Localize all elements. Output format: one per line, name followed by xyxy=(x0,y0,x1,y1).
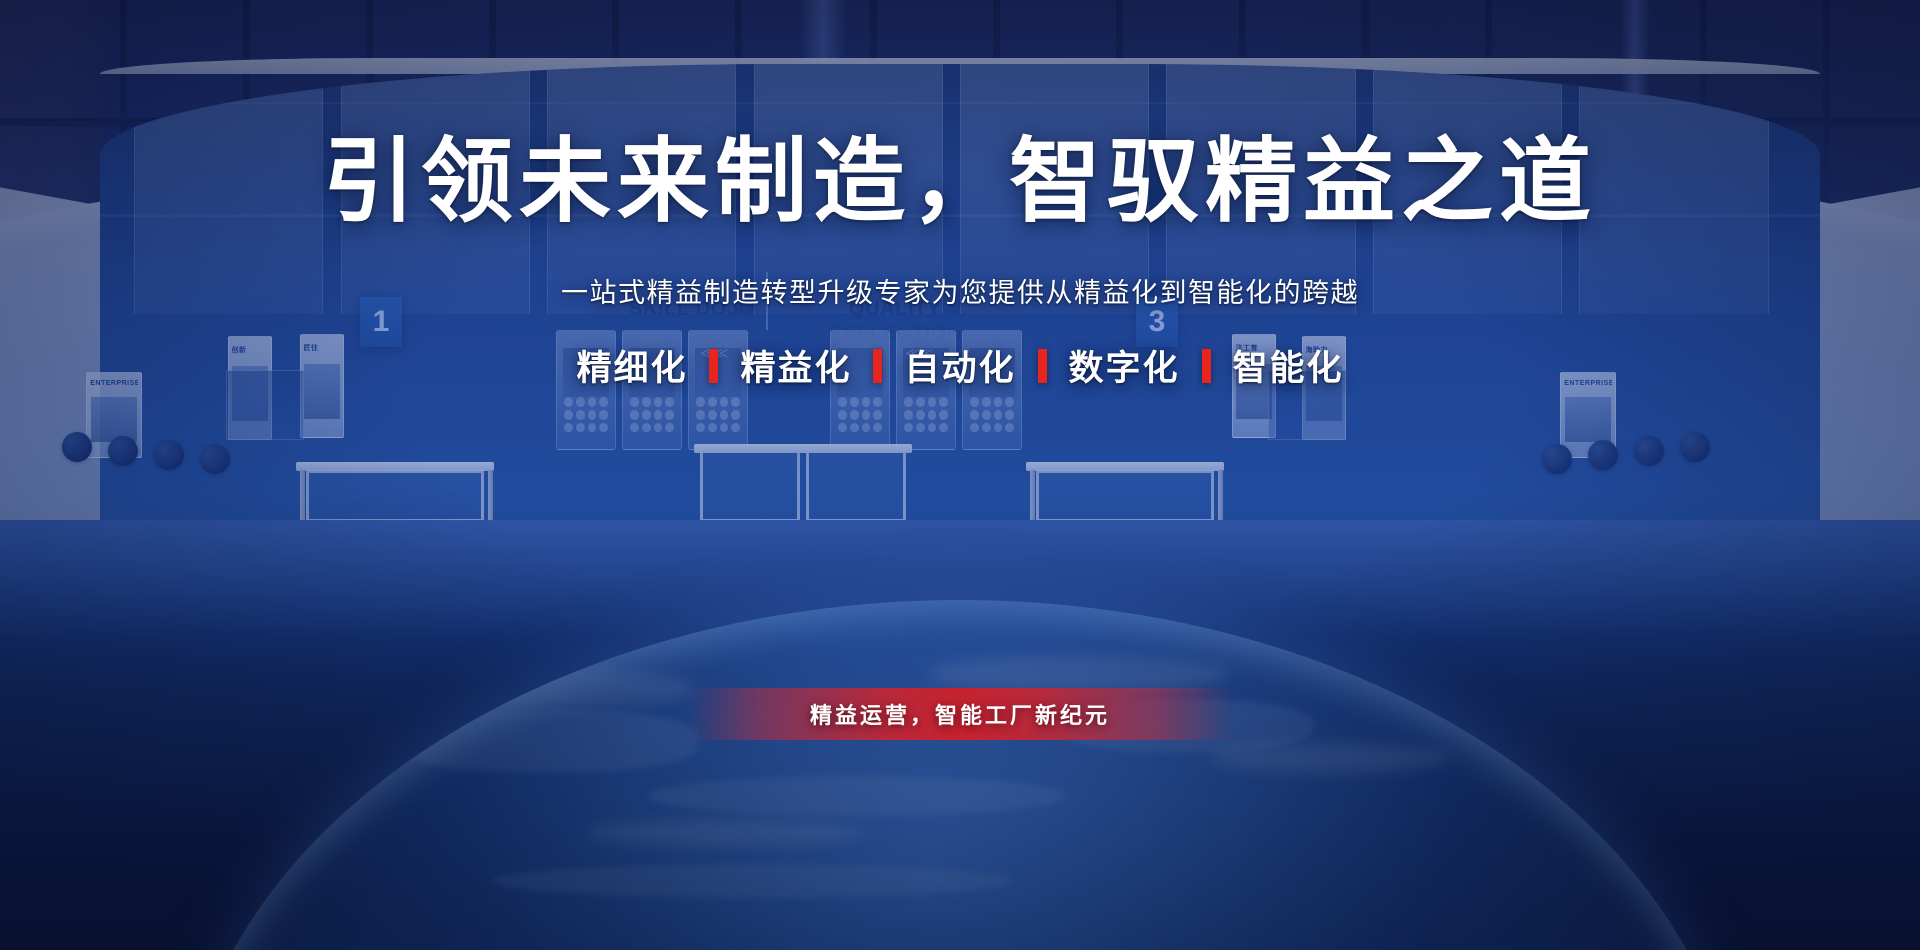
banner-subheadline: 一站式精益制造转型升级专家为您提供从精益化到智能化的跨越 xyxy=(561,271,1359,310)
keyword-item-1: 精细化 xyxy=(576,340,687,391)
keyword-list: 精细化 精益化 自动化 数字化 智能化 xyxy=(576,340,1343,391)
keyword-separator-icon xyxy=(709,349,718,383)
banner-content: 引领未来制造，智驭精益之道 一站式精益制造转型升级专家为您提供从精益化到智能化的… xyxy=(0,0,1920,950)
keyword-separator-icon xyxy=(873,349,882,383)
banner-headline: 引领未来制造，智驭精益之道 xyxy=(323,132,1597,233)
keyword-item-5: 智能化 xyxy=(1233,340,1344,391)
keyword-separator-icon xyxy=(1038,349,1047,383)
keyword-item-4: 数字化 xyxy=(1069,340,1180,391)
tagline-ribbon: 精益运营，智能工厂新纪元 xyxy=(688,688,1233,740)
keyword-item-3: 自动化 xyxy=(904,340,1015,391)
keyword-separator-icon xyxy=(1202,349,1211,383)
tagline-text: 精益运营，智能工厂新纪元 xyxy=(810,698,1110,730)
keyword-item-2: 精益化 xyxy=(740,340,851,391)
